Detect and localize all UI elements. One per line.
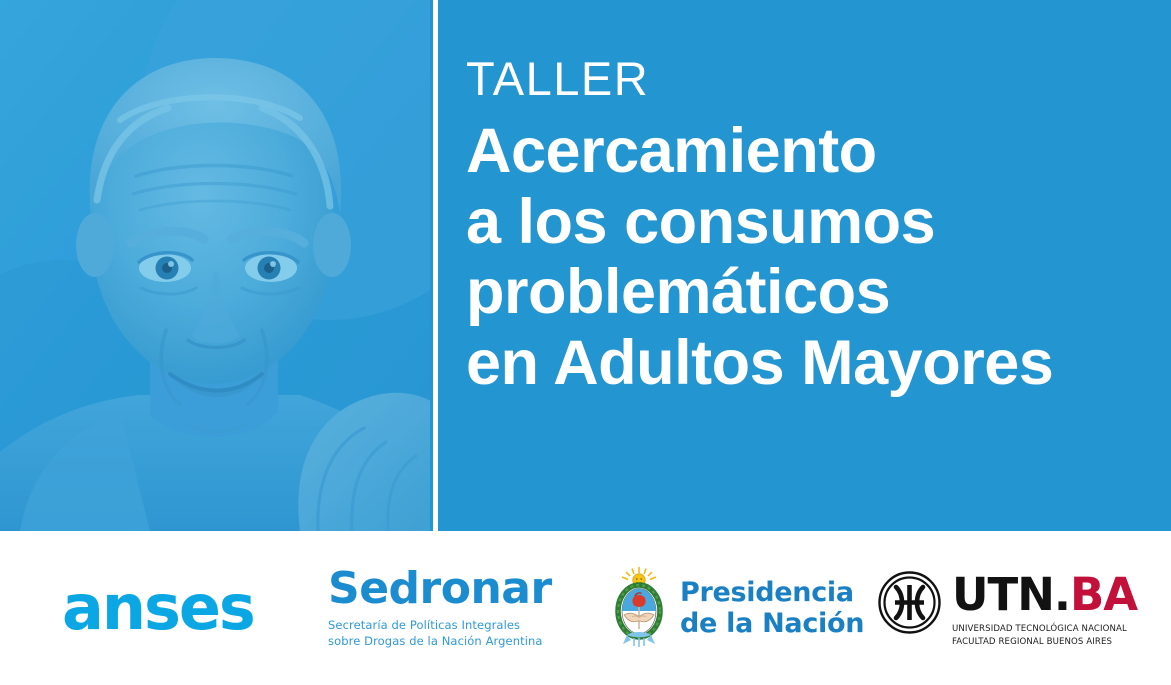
portrait-illustration [0, 0, 430, 531]
utn-subtitle: UNIVERSIDAD TECNOLÓGICA NACIONAL FACULTA… [952, 623, 1127, 648]
headline-block: TALLER Acercamiento a los consumos probl… [466, 55, 1156, 398]
hero-banner: TALLER Acercamiento a los consumos probl… [0, 0, 1171, 531]
logo-presidencia[interactable]: Presidencia de la Nación [600, 565, 872, 651]
poster-canvas: TALLER Acercamiento a los consumos probl… [0, 0, 1171, 685]
utn-wordmark-accent: BA [1070, 568, 1137, 621]
argentina-coat-of-arms-icon [612, 565, 666, 651]
logo-anses[interactable]: anses [0, 577, 300, 639]
title-line-4: en Adultos Mayores [466, 328, 1156, 399]
title-line-3: problemáticos [466, 257, 1156, 328]
title-line-2: a los consumos [466, 187, 1156, 258]
footer-logo-bar: anses Sedronar Secretaría de Políticas I… [0, 531, 1171, 685]
sedronar-subtitle-line-2: sobre Drogas de la Nación Argentina [328, 634, 543, 648]
title-line-1: Acercamiento [466, 116, 1156, 187]
portrait-photo [0, 0, 430, 531]
page-title: Acercamiento a los consumos problemático… [466, 116, 1156, 398]
presidencia-line-1: Presidencia [680, 577, 854, 608]
utn-emblem-svg [878, 571, 941, 634]
utn-wordmark-primary: UTN. [952, 568, 1070, 621]
logo-row: anses Sedronar Secretaría de Políticas I… [0, 531, 1171, 685]
presidencia-line-2: de la Nación [680, 608, 864, 639]
utn-text-block: UTN.BA UNIVERSIDAD TECNOLÓGICA NACIONAL … [952, 568, 1137, 648]
eyebrow-label: TALLER [466, 55, 1156, 102]
presidencia-text: Presidencia de la Nación [680, 577, 864, 640]
logo-sedronar[interactable]: Sedronar Secretaría de Políticas Integra… [300, 567, 600, 648]
utn-subtitle-line-2: FACULTAD REGIONAL BUENOS AIRES [952, 637, 1112, 647]
utn-circle-asterisk-icon [878, 571, 941, 634]
utn-subtitle-line-1: UNIVERSIDAD TECNOLÓGICA NACIONAL [952, 624, 1127, 634]
sedronar-subtitle: Secretaría de Políticas Integrales sobre… [328, 618, 543, 648]
vertical-divider [433, 0, 438, 531]
sedronar-wordmark: Sedronar [328, 567, 552, 611]
anses-wordmark: anses [62, 577, 254, 639]
coat-of-arms-svg [612, 565, 666, 651]
sedronar-subtitle-line-1: Secretaría de Políticas Integrales [328, 618, 520, 632]
logo-utn-ba[interactable]: UTN.BA UNIVERSIDAD TECNOLÓGICA NACIONAL … [872, 568, 1171, 648]
utn-wordmark: UTN.BA [952, 572, 1137, 617]
